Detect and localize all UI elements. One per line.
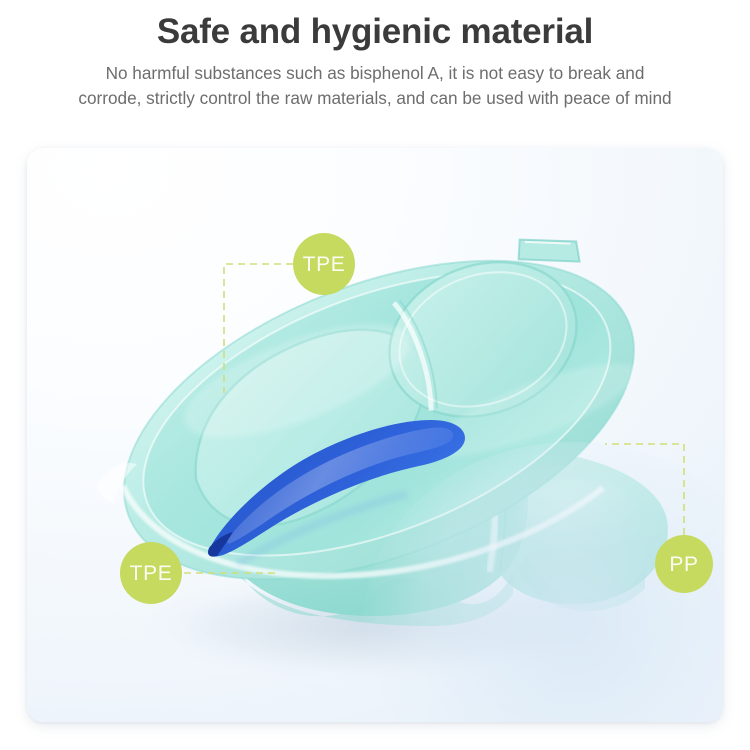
callout-badge-tpe-lid-label: TPE bbox=[303, 254, 346, 275]
page-subtitle: No harmful substances such as bisphenol … bbox=[40, 53, 710, 111]
product-feature-image: Safe and hygienic material No harmful su… bbox=[0, 0, 750, 750]
page-subtitle-line-1: No harmful substances such as bisphenol … bbox=[40, 61, 710, 86]
product-image-card: TPE TPE PP bbox=[27, 148, 723, 722]
callout-badge-pp-body-label: PP bbox=[669, 554, 698, 575]
callout-badge-tpe-lid[interactable]: TPE bbox=[293, 233, 355, 295]
callout-badge-tpe-base[interactable]: TPE bbox=[120, 542, 182, 604]
page-title: Safe and hygienic material bbox=[0, 0, 750, 53]
product-illustration bbox=[27, 148, 723, 722]
callout-badge-pp-body[interactable]: PP bbox=[655, 535, 713, 593]
page-subtitle-line-2: corrode, strictly control the raw materi… bbox=[40, 86, 710, 111]
header-text-block: Safe and hygienic material No harmful su… bbox=[0, 0, 750, 111]
callout-badge-tpe-base-label: TPE bbox=[130, 563, 173, 584]
